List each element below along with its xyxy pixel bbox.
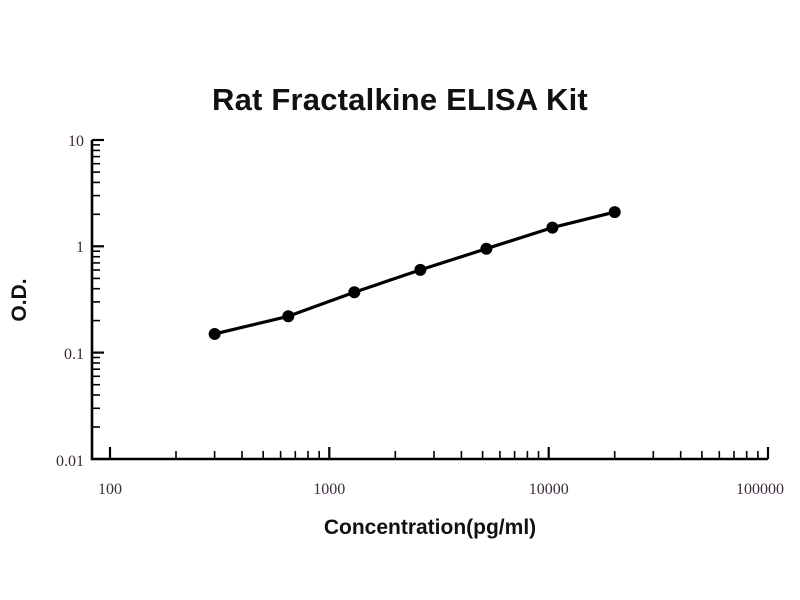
data-point: [546, 222, 558, 234]
y-tick-label: 0.01: [56, 453, 84, 470]
x-tick-label: 100000: [736, 481, 784, 498]
y-tick-label: 0.1: [64, 346, 84, 363]
chart-figure: Rat Fractalkine ELISA Kit: [0, 0, 800, 600]
data-point: [282, 310, 294, 322]
x-tick-label: 10000: [529, 481, 569, 498]
data-point: [609, 206, 621, 218]
data-point: [348, 286, 360, 298]
data-point: [209, 328, 221, 340]
y-axis-ticks: [92, 140, 104, 459]
x-tick-labels: 100 1000 10000 100000: [98, 481, 784, 498]
x-axis-ticks: [110, 447, 768, 459]
y-axis-title: O.D.: [8, 278, 31, 321]
axis-spines: [92, 140, 768, 459]
x-tick-label: 100: [98, 481, 122, 498]
data-point: [480, 243, 492, 255]
x-tick-label: 1000: [313, 481, 345, 498]
y-tick-label: 1: [76, 239, 84, 256]
y-tick-labels: 10 1 0.1 0.01: [56, 133, 84, 470]
x-axis-title: Concentration(pg/ml): [324, 516, 536, 539]
y-tick-label: 10: [68, 133, 84, 150]
data-point: [414, 264, 426, 276]
plot-area: 10 1 0.1 0.01 100 1000 10000 100000 Conc…: [0, 0, 800, 600]
